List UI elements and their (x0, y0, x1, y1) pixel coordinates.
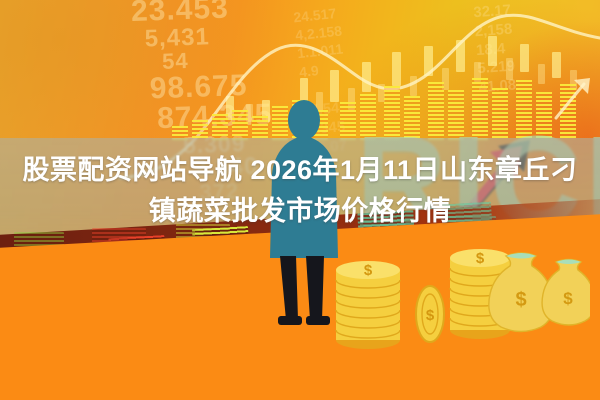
coin-dollar-symbol: $ (476, 250, 485, 267)
coin-stack-icon: $ (336, 261, 400, 349)
coin-dollar-symbol: $ (426, 307, 435, 324)
headline-line-2: 镇蔬菜批发市场价格行情 (14, 191, 586, 232)
coins-and-money-bags: $ $ $ $ $ (330, 248, 590, 358)
headline-text: 股票配资网站导航 2026年1月11日山东章丘刁 镇蔬菜批发市场价格行情 (0, 150, 600, 232)
bag-dollar-symbol: $ (515, 289, 526, 311)
coin-dollar-symbol: $ (364, 262, 373, 279)
headline-line-1: 股票配资网站导航 2026年1月11日山东章丘刁 (14, 150, 586, 191)
bag-dollar-symbol: $ (563, 289, 573, 308)
standing-coin-icon: $ (416, 286, 444, 342)
money-bag-icon: $ (542, 260, 590, 326)
finance-banner-image: 23.453 5,431 54 98.675 874.345 5.309 2.3… (0, 0, 600, 400)
